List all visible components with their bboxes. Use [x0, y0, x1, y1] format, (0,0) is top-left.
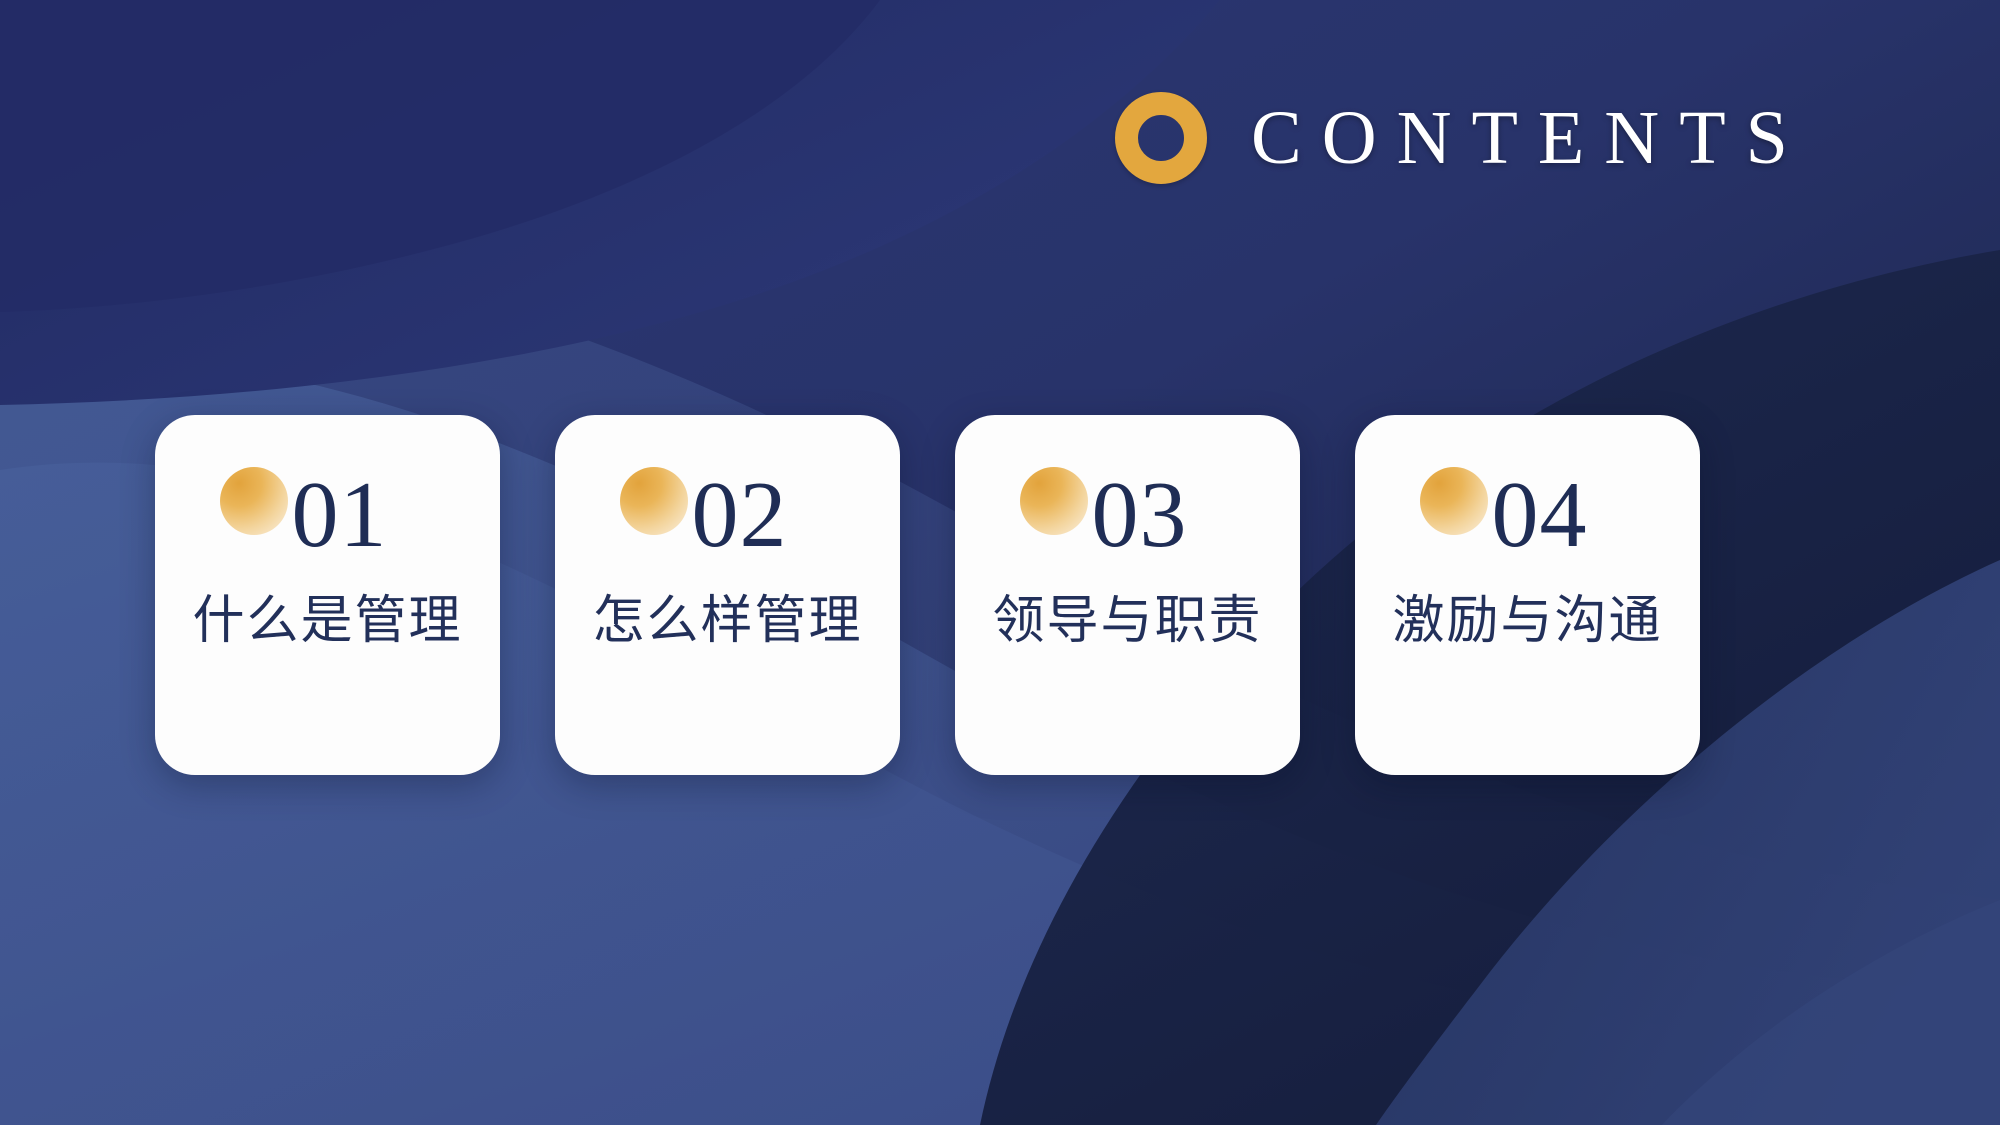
- card-number: 02: [692, 468, 788, 562]
- card-label: 激励与沟通: [1392, 593, 1662, 650]
- gold-circle-icon: [1420, 467, 1488, 535]
- contents-card-01[interactable]: 01 什么是管理: [155, 415, 500, 775]
- gold-circle-icon: [1020, 467, 1088, 535]
- contents-card-03[interactable]: 03 领导与职责: [955, 415, 1300, 775]
- number-block: 01: [155, 463, 500, 567]
- gold-circle-icon: [220, 467, 288, 535]
- card-label: 什么是管理: [192, 593, 462, 650]
- card-number: 04: [1492, 468, 1588, 562]
- number-block: 04: [1355, 463, 1700, 567]
- card-number: 01: [292, 468, 388, 562]
- gold-ring-icon: [1115, 92, 1207, 184]
- contents-card-02[interactable]: 02 怎么样管理: [555, 415, 900, 775]
- contents-slide: CONTENTS 01 什么是管理 02 怎么样管理 03 领导与职责: [0, 0, 2000, 1125]
- slide-header: CONTENTS: [1115, 92, 1808, 184]
- number-block: 02: [555, 463, 900, 567]
- contents-card-row: 01 什么是管理 02 怎么样管理 03 领导与职责 04 激励与沟通: [155, 415, 1700, 775]
- page-title: CONTENTS: [1251, 100, 1808, 176]
- contents-card-04[interactable]: 04 激励与沟通: [1355, 415, 1700, 775]
- gold-circle-icon: [620, 467, 688, 535]
- number-block: 03: [955, 463, 1300, 567]
- card-number: 03: [1092, 468, 1188, 562]
- card-label: 怎么样管理: [592, 593, 862, 650]
- card-label: 领导与职责: [992, 593, 1262, 650]
